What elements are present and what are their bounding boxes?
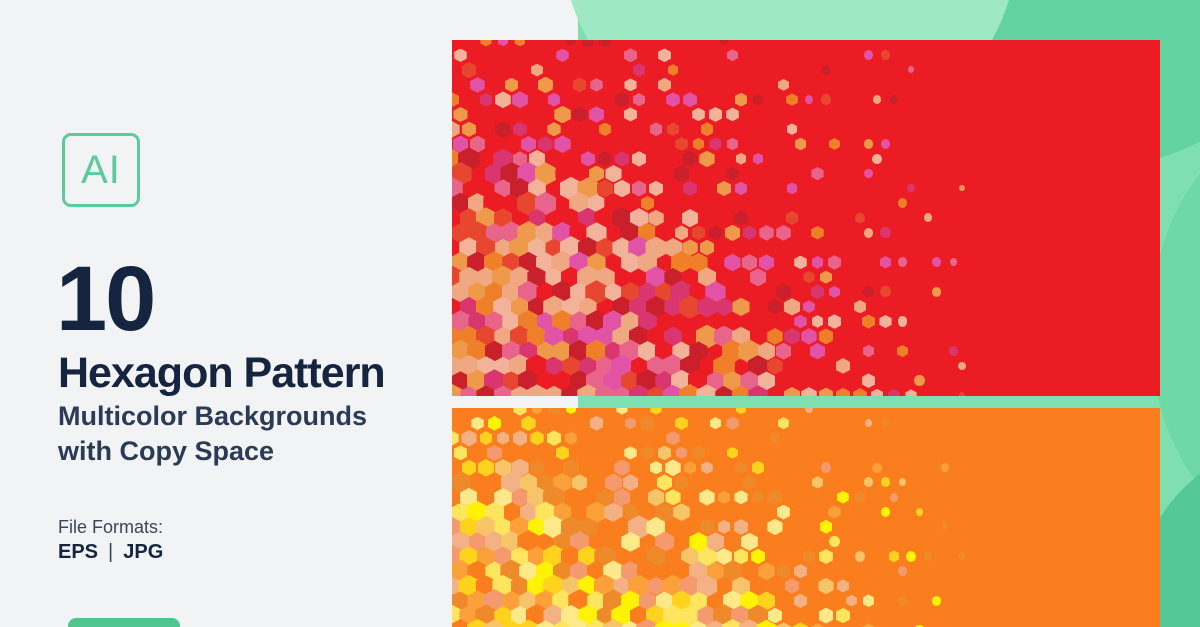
hexagon-cell [514,40,525,46]
hexagon-cell [734,210,748,225]
hexagon-cell [822,65,831,75]
hexagon-cell [872,360,882,371]
hexagon-cell [658,48,671,62]
hexagon-cell [767,519,782,535]
hexagon-cell [624,48,637,62]
hexagon-cell [693,138,704,150]
hexagon-cell [898,316,908,327]
hexagon-cell [801,387,817,396]
hexagon-cell [735,182,748,196]
hexagon-cell [495,91,511,108]
hexagon-cell [786,93,798,106]
hexagon-cell [691,504,706,520]
hexagon-cell [784,328,800,345]
hexagon-cell [882,419,889,427]
hexagon-cell [505,78,518,92]
hexagon-cell [632,151,646,166]
hexagon-cell [811,167,823,180]
hexagon-cell [554,135,570,153]
hexagon-cell [753,153,764,165]
hexagon-cell [719,432,730,444]
hexagon-cell [811,226,824,240]
hexagon-cell [829,286,840,298]
hexagon-cell [674,165,690,182]
hexagon-cell [837,579,849,592]
hexagon-cell [916,508,923,516]
hexagon-cell [700,240,715,256]
hexagon-cell [497,431,509,444]
hexagon-cell [726,196,739,210]
adobe-illustrator-badge-icon: AI [62,133,140,207]
hexagon-cell [812,256,824,269]
hexagon-cell [829,536,839,547]
hexagon-cell [743,475,757,490]
hexagon-cell [777,505,791,520]
hexagon-cell [871,389,883,396]
hexagon-cell [513,430,527,446]
hexagon-cell [692,226,705,241]
hexagon-cell [890,95,898,104]
hexagon-cell [949,346,958,355]
hexagon-cell [828,374,841,388]
hexagon-cell [805,95,814,104]
hexagon-cell [812,315,824,328]
hexagon-cell [828,255,842,270]
hexagon-cell [668,64,679,76]
hexagon-cell [470,77,485,93]
hexagon-cell [777,564,790,578]
hexagon-cell [650,408,661,415]
hexagon-cell [805,408,813,413]
subtitle-line-2: with Copy Space [58,434,367,469]
hexagon-cell [734,490,747,504]
hexagon-cell [759,254,774,270]
hexagon-cell [854,300,867,314]
hexagon-cell [675,417,688,431]
hexagon-cell [872,463,881,473]
hexagon-cell [778,79,789,91]
hexagon-cell [803,550,815,563]
hexagon-cell [487,445,502,461]
hexagon-cell [547,430,561,446]
hexagon-cell [736,408,747,414]
hexagon-cell [648,210,663,227]
hexagon-cell [480,431,493,445]
hexagon-cell [864,169,873,179]
hexagon-cell [864,477,873,487]
hexagon-cell [801,328,816,345]
cta-button[interactable] [68,618,180,627]
hexagon-cell [597,180,613,198]
hexagon-cell [820,211,833,225]
hexagon-cell [836,388,850,396]
hexagon-cell [732,298,749,317]
hexagon-cell [673,503,690,521]
hexagon-cell [881,477,890,487]
hexagon-cell [641,416,654,430]
hexagon-cell [812,476,823,488]
hexagon-cell [785,269,800,285]
hexagon-cell [658,78,671,92]
badge-label: AI [81,150,121,190]
hexagon-cell [650,122,663,136]
hexagon-cell [865,419,872,427]
hexagon-cell [624,107,637,121]
hexagon-cell [898,257,907,267]
hexagon-cell [770,433,779,443]
hexagon-cell [547,122,560,136]
hexagon-cell [726,108,739,122]
hexagon-cell [880,286,890,297]
hexagon-cell [752,461,765,475]
hexagon-cell [718,520,731,534]
hexagon-cell [480,40,491,47]
hexagon-cell [724,254,740,272]
hexagon-cell [675,475,689,490]
hexagon-cell [452,431,459,446]
hexagon-cell [819,328,834,344]
hexagon-cell [589,106,604,122]
hexagon-cell [614,460,629,477]
hexagon-cell [819,608,834,624]
hexagon-cell [837,491,849,504]
hexagon-cell [752,491,764,504]
hexagon-cell [538,77,553,94]
hexagon-cell [590,78,603,92]
hexagon-cell [521,416,535,431]
hexagon-cell [648,489,664,507]
hexagon-cell [521,136,536,152]
hexagon-cell [855,94,865,105]
hexagon-cell [794,315,806,328]
hexagon-cell [566,408,577,414]
info-column: AI 10 Hexagon Pattern Multicolor Backgro… [0,0,452,627]
hexagon-cell [879,315,891,328]
hexagon-cell [683,92,697,107]
page-title: Hexagon Pattern [58,352,385,395]
hexagon-cell [556,49,569,63]
hexagon-cell [862,623,875,627]
hexagon-cell [667,123,679,136]
hexagon-cell [914,375,924,386]
hexagon-cell [462,460,477,476]
hexagon-cell [452,121,460,137]
hexagon-cell [641,446,654,460]
hexagon-cell [767,328,783,345]
hexagon-cell [615,92,629,107]
hexagon-cell [454,78,467,92]
hexagon-cell [803,300,815,313]
hexagon-cell [498,40,509,46]
hexagon-cell [716,548,732,565]
hexagon-cell [853,388,867,396]
hexagon-cell [734,519,749,535]
hexagon-cell [959,552,966,559]
hexagon-cell [794,594,807,608]
hexagon-cell [864,50,873,60]
hexagon-cell [564,62,578,77]
hexagon-cell [743,226,756,240]
hexagon-cell [759,225,773,241]
hexagon-cell [889,271,899,282]
hexagon-cell [819,549,833,564]
hexagon-cell [863,345,875,358]
file-formats-label: File Formats: [58,518,163,536]
hexagon-cell [649,181,663,196]
hexagon-cell [836,358,850,374]
hexagon-cell [768,299,782,314]
hexagon-cell [736,65,746,75]
hexagon-cell [727,138,739,150]
hexagon-cell [758,562,775,580]
hexagon-cell [478,459,494,477]
hexagon-cell [538,136,552,152]
hexagon-cell [718,491,730,504]
orange-hexagon-preview[interactable] [452,408,1160,627]
hexagon-cell [548,408,560,415]
hexagon-cell [657,474,672,490]
hexagon-cell [750,268,767,286]
hexagon-cell [572,474,587,491]
hexagon-cell [699,489,714,506]
hexagon-cell [454,49,467,63]
item-count: 10 [56,253,154,345]
hexagon-cell [899,478,907,486]
file-format-jpg: JPG [123,542,163,562]
hexagon-cell [488,416,501,431]
hexagon-cell [855,491,866,503]
hexagon-cell [753,94,764,106]
hexagon-cell [784,298,800,315]
hexagon-cell [821,94,830,104]
hexagon-cell [565,431,577,444]
hexagon-cell [657,107,672,123]
hexagon-cell [862,314,875,328]
hexagon-cell [462,122,476,137]
hexagon-cell [863,286,873,297]
subtitle-line-1: Multicolor Backgrounds [58,399,367,434]
hexagon-cell [726,78,739,92]
hexagon-cell [768,608,783,624]
hexagon-cell [908,66,915,73]
hexagon-cell [717,181,731,196]
hexagon-cell [829,594,841,607]
hexagon-cell [880,227,890,238]
hexagon-cell [785,578,799,593]
hexagon-cell [676,447,687,459]
hexagon-cell [699,151,714,168]
file-format-separator: | [108,542,113,562]
hexagon-cell [675,225,689,240]
hexagon-cell [554,106,570,124]
hexagon-cell [462,62,477,78]
hexagon-cell [794,256,807,270]
hexagon-cell [531,64,543,77]
hexagon-cell [776,225,791,241]
hexagon-cell [864,228,873,238]
hexagon-cell [767,548,783,565]
hexagon-cell [624,78,636,91]
hexagon-cell [736,153,747,165]
hexagon-cell [855,551,865,562]
hexagon-pattern-field-red [452,40,1160,396]
hexagon-cell [864,139,874,150]
hexagon-cell [641,196,655,211]
hexagon-cell [829,138,840,150]
hexagon-cell [863,594,875,607]
hexagon-cell [615,151,629,166]
hexagon-cell [855,213,864,223]
hexagon-cell [624,446,636,459]
hexagon-cell [530,460,544,475]
page-subtitle: Multicolor Backgrounds with Copy Space [58,399,367,468]
hexagon-cell [530,431,543,445]
hexagon-cell [888,389,900,396]
hexagon-cell [810,343,825,359]
hexagon-cell [795,138,807,151]
hexagon-cell [682,209,699,227]
hexagon-cell [768,490,782,505]
hexagon-cell [776,343,792,360]
hexagon-cell [665,489,680,505]
hexagon-cell [599,40,612,47]
hexagon-cell [684,461,696,474]
hexagon-cell [812,197,824,210]
hexagon-cell [889,550,900,562]
hexagon-cell [727,49,738,61]
hexagon-cell [751,549,765,564]
hexagon-cell [821,462,831,473]
hexagon-cell [872,154,881,164]
hexagon-cell [819,388,834,396]
hexagon-cell [454,445,468,460]
hexagon-cell [794,564,807,578]
hexagon-cell [941,463,949,471]
hexagon-cell [513,408,526,416]
hexagon-cell [624,137,637,151]
hexagon-cell [776,284,792,301]
hexagon-cell [880,256,891,268]
hexagon-cell [725,225,740,241]
hexagon-cell [905,389,916,396]
hexagon-cell [890,493,898,502]
hexagon-cell [959,392,966,396]
hexagon-cell [820,271,832,284]
hexagon-cell [614,180,630,198]
hexagon-cell [735,93,748,107]
hexagon-cell [726,167,738,180]
hexagon-cell [932,596,941,606]
hexagon-cell [605,165,621,182]
hexagon-cell [692,446,705,461]
hexagon-cell [735,461,747,474]
hexagon-cell [675,137,688,151]
hexagon-cell [709,196,721,209]
hexagon-cell [958,362,966,370]
hexagon-cell [665,459,680,476]
hexagon-cell [727,447,738,459]
hexagon-cell [924,213,932,222]
hexagon-cell [633,93,645,106]
hexagon-cell [778,417,789,429]
hexagon-cell [614,488,631,506]
hexagon-cell [573,77,587,92]
hexagon-cell [582,40,595,48]
hexagon-cell [924,551,933,561]
hexagon-cell [452,92,459,107]
hexagon-cell [787,182,798,194]
hexagon-cell [572,107,586,123]
hexagon-cell [471,417,483,430]
hexagon-cell [720,40,729,45]
hexagon-cell [563,459,579,476]
hexagon-cell [666,92,680,107]
hexagon-cell [710,417,721,429]
hexagon-cell [828,505,840,518]
hexagon-cell [726,417,738,430]
hexagon-cell [959,185,965,191]
hexagon-cell [480,93,493,107]
hexagon-cell [548,93,561,107]
hexagon-cell [932,287,941,297]
hexagon-cell [793,534,807,549]
hexagon-cell [589,445,604,461]
hexagon-cell [907,184,914,192]
file-formats-values: EPS | JPG [58,542,163,562]
hexagon-cell [453,107,467,122]
hexagon-cell [625,417,636,429]
hexagon-cell [616,408,627,415]
hexagon-cell [566,40,576,46]
hexagon-cell [862,373,876,388]
hexagon-cell [897,345,908,357]
hexagon-cell [898,198,907,208]
hexagon-cell [700,519,715,535]
hexagon-cell [709,138,721,151]
hexagon-cell [512,91,528,108]
hexagon-cell [683,181,697,196]
hexagon-cell [461,430,476,446]
hexagon-cell [538,445,553,461]
hexagon-cell [932,257,941,266]
hexagon-cell [811,285,825,300]
hexagon-cell [854,360,865,372]
hexagon-cell [495,121,511,138]
hexagon-cell [556,446,569,461]
hexagon-cell [701,122,714,136]
hexagon-cell [709,226,722,240]
hexagon-cell [828,314,842,329]
hexagon-cell [650,461,662,474]
hexagon-cell [950,258,958,266]
hexagon-cell [803,271,814,283]
hexagon-cell [767,358,782,375]
hexagon-cell [598,151,612,166]
hexagon-cell [658,446,672,461]
hexagon-cell [784,387,800,396]
red-hexagon-preview[interactable] [452,40,1160,396]
hexagon-cell [818,578,833,594]
hexagon-cell [633,63,646,77]
hexagon-cell [812,447,822,458]
file-format-eps: EPS [58,542,98,562]
hexagon-cell [760,505,773,519]
hexagon-cell [811,623,824,627]
hexagon-cell [818,358,833,374]
hexagon-cell [599,123,611,136]
hexagon-cell [906,551,916,562]
hexagon-cell [709,107,723,122]
